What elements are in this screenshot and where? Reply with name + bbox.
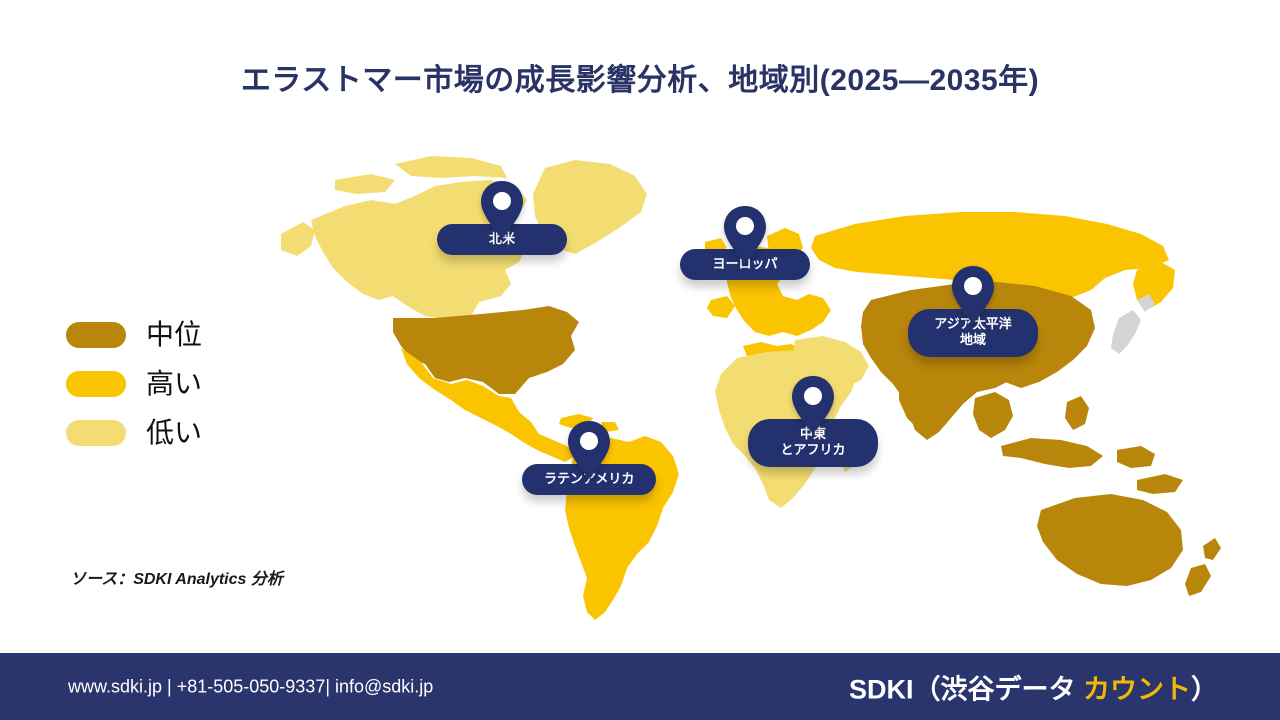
source-note: ソース：SDKI Analytics 分析	[70, 565, 283, 589]
footer-logo-accent: カウント	[1083, 674, 1191, 704]
legend-item-low: 低い	[66, 408, 306, 457]
legend-label-medium: 中位	[146, 321, 202, 349]
legend-item-medium: 中位	[66, 310, 306, 359]
footer-bar: www.sdki.jp | +81-505-050-9337| info@sdk…	[0, 653, 1280, 720]
location-pin-icon	[479, 180, 525, 240]
location-pin-icon	[722, 205, 768, 265]
map-pin-middle-east-africa[interactable]: 中東 とアフリカ	[748, 375, 878, 467]
legend: 中位 高い 低い	[66, 310, 306, 457]
legend-label-high: 高い	[146, 370, 202, 398]
region-philippines	[1065, 396, 1089, 430]
region-united-states	[393, 306, 579, 394]
location-pin-icon	[950, 265, 996, 325]
region-new-zealand	[1185, 538, 1221, 596]
location-pin-icon	[566, 420, 612, 480]
legend-label-low: 低い	[146, 419, 202, 447]
footer-contact-info[interactable]: www.sdki.jp | +81-505-050-9337| info@sdk…	[68, 676, 433, 697]
footer-logo: SDKI（渋谷データ カウント）	[849, 667, 1218, 706]
map-pin-latin-america[interactable]: ラテンアメリカ	[522, 420, 656, 495]
map-pin-asia-pacific[interactable]: アジア太平洋 地域	[908, 265, 1038, 357]
map-pin-europe[interactable]: ヨーロッパ	[680, 205, 810, 280]
legend-item-high: 高い	[66, 359, 306, 408]
footer-logo-main: SDKI（渋谷データ	[849, 674, 1083, 704]
legend-swatch-medium	[66, 322, 126, 348]
region-papua-new-guinea	[1137, 474, 1183, 494]
legend-swatch-low	[66, 420, 126, 446]
region-japan	[1111, 294, 1155, 354]
region-australia	[1037, 494, 1183, 586]
page-title: エラストマー市場の成長影響分析、地域別(2025—2035年)	[0, 55, 1280, 99]
location-pin-icon	[790, 375, 836, 435]
map-pin-north-america[interactable]: 北米	[437, 180, 567, 255]
footer-logo-tail: ）	[1191, 674, 1218, 704]
legend-swatch-high	[66, 371, 126, 397]
region-southeast-asia	[973, 392, 1155, 468]
